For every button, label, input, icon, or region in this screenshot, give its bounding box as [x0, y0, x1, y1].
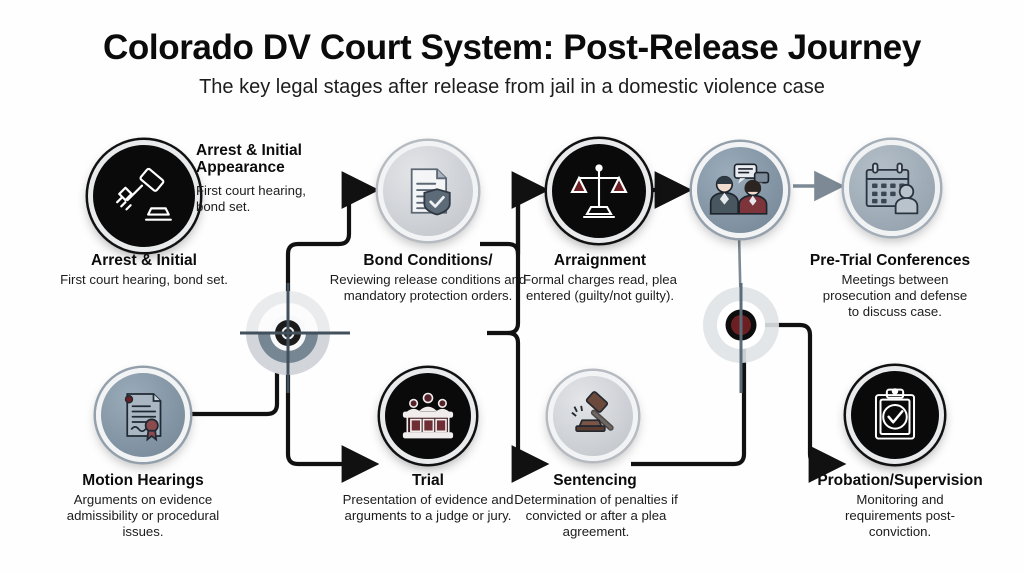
- trial-circle[interactable]: [380, 368, 476, 464]
- arrest-overlay-label: Arrest & Initial Appearance: [196, 142, 336, 177]
- wire-bond-branch-up: [487, 190, 541, 333]
- wire-bond-to-arraignment: [480, 190, 540, 254]
- document-shield-icon: [399, 162, 457, 220]
- clipboard-check-icon: [867, 386, 923, 444]
- two-people-speech-icon: [707, 159, 773, 221]
- sentencing-circle[interactable]: [548, 371, 638, 461]
- bond-conditions-circle[interactable]: [378, 141, 478, 241]
- calendar-person-icon: [861, 159, 923, 217]
- jury-bench-icon: [399, 389, 457, 443]
- connector-layer: [0, 0, 1024, 572]
- decoration-target-left: [240, 283, 350, 393]
- arrest-overlay-desc: First court hearing, bond set.: [196, 183, 316, 215]
- calendar-circle[interactable]: [844, 140, 940, 236]
- arraignment-circle[interactable]: [547, 139, 651, 243]
- wire-branch-to-sentencing: [508, 333, 541, 464]
- scales-of-justice-icon: [567, 159, 631, 223]
- motion-hearings-circle[interactable]: [96, 368, 190, 462]
- infographic-canvas: Colorado DV Court System: Post-Release J…: [0, 0, 1024, 572]
- arrest-circle[interactable]: [88, 140, 200, 252]
- gavel-block-icon: [566, 390, 620, 442]
- decoration-target-right: [692, 283, 802, 398]
- probation-circle[interactable]: [846, 366, 944, 464]
- gavel-hand-icon: [111, 163, 177, 229]
- pre-trial-circle[interactable]: [692, 142, 788, 238]
- certificate-seal-icon: [115, 387, 171, 443]
